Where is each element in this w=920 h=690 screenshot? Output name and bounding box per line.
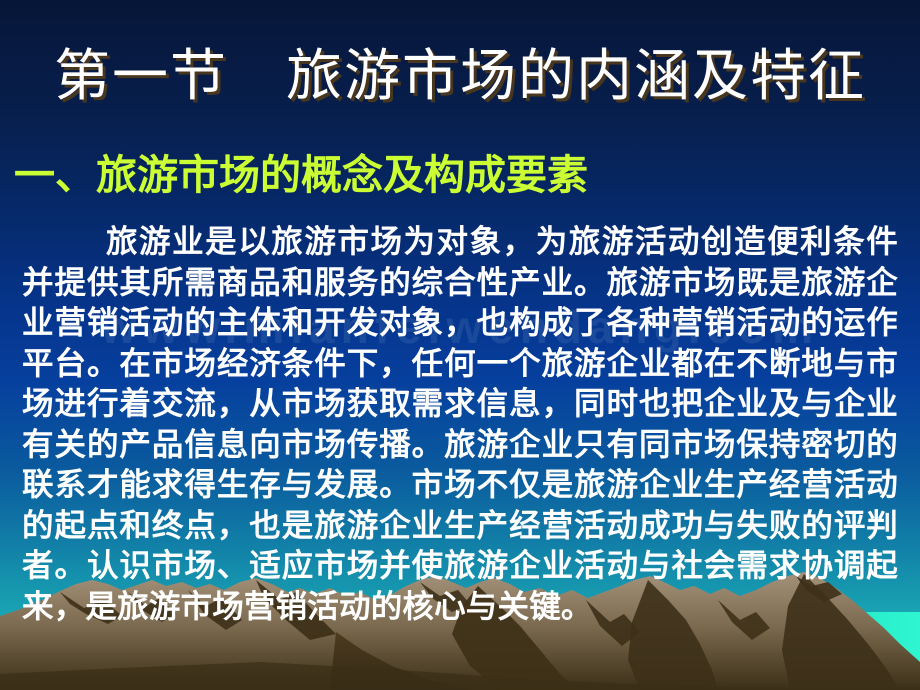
section-sub-heading: 一、旅游市场的概念及构成要素: [14, 150, 588, 200]
presentation-slide: www.mianfeiwendang.com: [0, 0, 920, 690]
body-paragraph: 旅游业是以旅游市场为对象，为旅游活动创造便利条件并提供其所需商品和服务的综合性产…: [22, 222, 898, 627]
mountain-shadow-5: [330, 632, 470, 690]
slide-title: 第一节 旅游市场的内涵及特征: [0, 44, 920, 110]
mountain-foreground: [0, 662, 790, 690]
